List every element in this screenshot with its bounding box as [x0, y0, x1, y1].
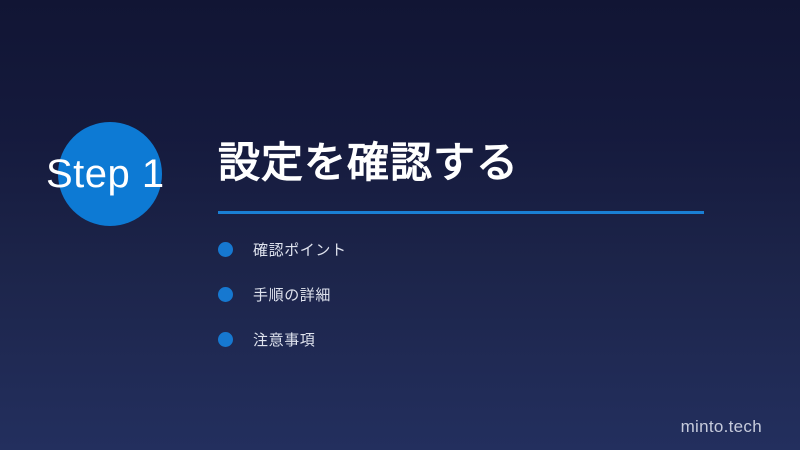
- footer-brand: minto.tech: [681, 417, 762, 437]
- bullet-dot-icon: [218, 287, 233, 302]
- list-item-label: 確認ポイント: [253, 239, 347, 260]
- bullet-dot-icon: [218, 332, 233, 347]
- list-item: 注意事項: [218, 329, 678, 349]
- page-title: 設定を確認する: [218, 140, 718, 185]
- title-divider: [218, 211, 704, 214]
- title-block: 設定を確認する: [218, 140, 718, 185]
- presentation-slide: Step 1 設定を確認する 確認ポイント 手順の詳細 注意事項 minto.t…: [0, 0, 800, 450]
- list-item: 確認ポイント: [218, 239, 678, 259]
- list-item: 手順の詳細: [218, 284, 678, 304]
- list-item-label: 注意事項: [253, 329, 315, 350]
- list-item-label: 手順の詳細: [253, 284, 331, 305]
- bullet-dot-icon: [218, 242, 233, 257]
- step-badge: Step 1: [0, 122, 220, 226]
- bullet-list: 確認ポイント 手順の詳細 注意事項: [218, 239, 678, 374]
- step-badge-label: Step 1: [46, 122, 165, 226]
